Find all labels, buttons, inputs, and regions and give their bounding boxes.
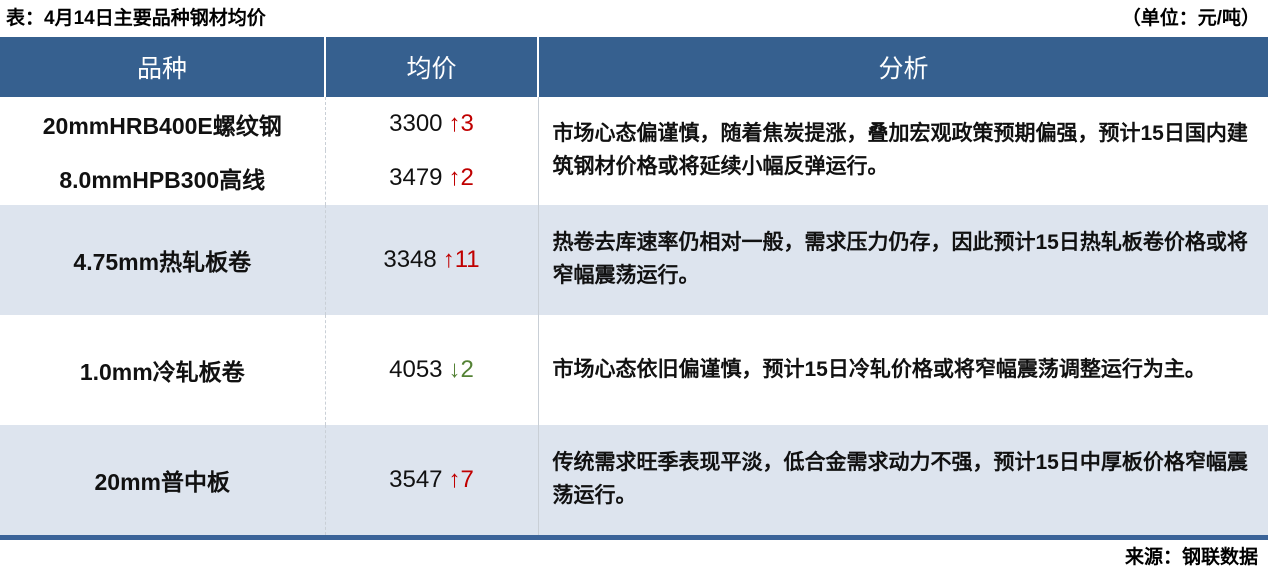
column-header-analysis: 分析 bbox=[538, 37, 1268, 97]
steel-price-table: 品种 均价 分析 20mmHRB400E螺纹钢 3300↑3 市场心态偏谨慎，随… bbox=[0, 37, 1268, 540]
change-down: ↓2 bbox=[449, 356, 474, 383]
price-value: 3348 bbox=[383, 246, 436, 273]
price-value: 4053 bbox=[389, 356, 442, 383]
cell-variety: 8.0mmHPB300高线 bbox=[0, 150, 325, 205]
cell-price: 3479↑2 bbox=[325, 150, 538, 205]
price-value: 3300 bbox=[389, 110, 442, 137]
cell-variety: 1.0mm冷轧板卷 bbox=[0, 315, 325, 425]
table-header: 品种 均价 分析 bbox=[0, 37, 1268, 97]
change-value: 2 bbox=[461, 164, 474, 191]
arrow-up-icon: ↑ bbox=[449, 466, 461, 493]
cell-price: 3300↑3 bbox=[325, 97, 538, 150]
column-header-variety: 品种 bbox=[0, 37, 325, 97]
cell-analysis: 热卷去库速率仍相对一般，需求压力仍存，因此预计15日热轧板卷价格或将窄幅震荡运行… bbox=[538, 205, 1268, 315]
change-up: ↑11 bbox=[443, 246, 480, 273]
change-value: 3 bbox=[461, 110, 474, 137]
title-bar: 表：4月14日主要品种钢材均价 （单位：元/吨） bbox=[0, 0, 1268, 37]
footer-bar: 来源：钢联数据 bbox=[0, 534, 1268, 576]
cell-analysis: 传统需求旺季表现平淡，低合金需求动力不强，预计15日中厚板价格窄幅震荡运行。 bbox=[538, 425, 1268, 538]
change-value: 2 bbox=[461, 356, 474, 383]
change-up: ↑2 bbox=[449, 164, 474, 191]
table-body: 20mmHRB400E螺纹钢 3300↑3 市场心态偏谨慎，随着焦炭提涨，叠加宏… bbox=[0, 97, 1268, 538]
cell-price: 3547↑7 bbox=[325, 425, 538, 538]
price-value: 3479 bbox=[389, 164, 442, 191]
change-value: 11 bbox=[455, 246, 480, 273]
cell-variety: 4.75mm热轧板卷 bbox=[0, 205, 325, 315]
column-header-price: 均价 bbox=[325, 37, 538, 97]
arrow-up-icon: ↑ bbox=[449, 164, 461, 191]
table-row: 20mmHRB400E螺纹钢 3300↑3 市场心态偏谨慎，随着焦炭提涨，叠加宏… bbox=[0, 97, 1268, 150]
table-row: 20mm普中板 3547↑7 传统需求旺季表现平淡，低合金需求动力不强，预计15… bbox=[0, 425, 1268, 538]
page-title: 表：4月14日主要品种钢材均价 bbox=[6, 9, 266, 28]
change-up: ↑7 bbox=[449, 466, 474, 493]
arrow-down-icon: ↓ bbox=[449, 356, 461, 383]
table-header-row: 品种 均价 分析 bbox=[0, 37, 1268, 97]
cell-analysis: 市场心态依旧偏谨慎，预计15日冷轧价格或将窄幅震荡调整运行为主。 bbox=[538, 315, 1268, 425]
steel-price-table-container: 品种 均价 分析 20mmHRB400E螺纹钢 3300↑3 市场心态偏谨慎，随… bbox=[0, 37, 1268, 540]
cell-variety: 20mm普中板 bbox=[0, 425, 325, 538]
cell-analysis: 市场心态偏谨慎，随着焦炭提涨，叠加宏观政策预期偏强，预计15日国内建筑钢材价格或… bbox=[538, 97, 1268, 205]
cell-price: 4053↓2 bbox=[325, 315, 538, 425]
table-row: 4.75mm热轧板卷 3348↑11 热卷去库速率仍相对一般，需求压力仍存，因此… bbox=[0, 205, 1268, 315]
change-value: 7 bbox=[461, 466, 474, 493]
change-up: ↑3 bbox=[449, 110, 474, 137]
unit-note: （单位：元/吨） bbox=[1122, 9, 1260, 28]
table-row: 1.0mm冷轧板卷 4053↓2 市场心态依旧偏谨慎，预计15日冷轧价格或将窄幅… bbox=[0, 315, 1268, 425]
price-value: 3547 bbox=[389, 466, 442, 493]
cell-variety: 20mmHRB400E螺纹钢 bbox=[0, 97, 325, 150]
cell-price: 3348↑11 bbox=[325, 205, 538, 315]
arrow-up-icon: ↑ bbox=[443, 246, 455, 273]
arrow-up-icon: ↑ bbox=[449, 110, 461, 137]
source-note: 来源：钢联数据 bbox=[1125, 542, 1258, 569]
